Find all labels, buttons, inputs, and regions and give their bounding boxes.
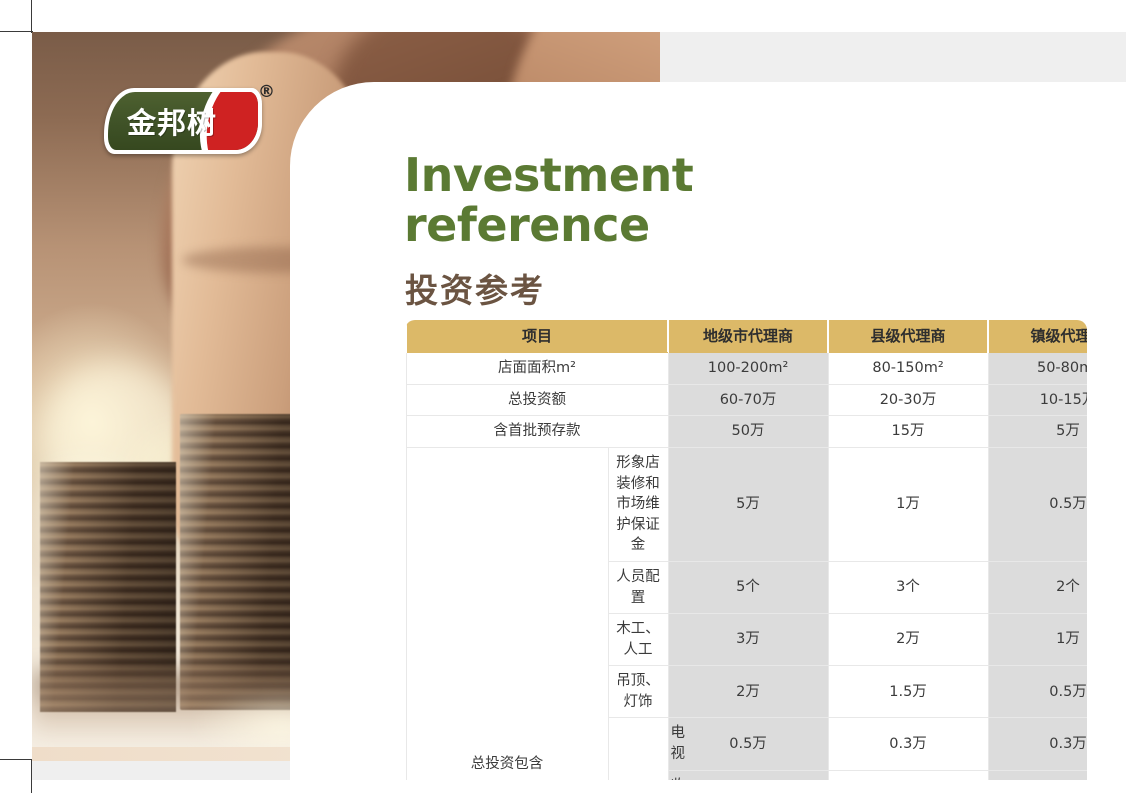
row-label: 店面面积m² bbox=[406, 353, 668, 385]
cell-town: 50-80m² bbox=[988, 353, 1087, 385]
artboard: 金邦树 ® Investment reference 投资参考 项目 地级市代理… bbox=[32, 32, 1126, 780]
logo-shield-fill: 金邦树 bbox=[108, 92, 258, 150]
cell-county: 3个 bbox=[828, 561, 988, 613]
cell-county: 1.5万 bbox=[828, 666, 988, 718]
cell-county: 80-150m² bbox=[828, 353, 988, 385]
logo-wordmark: 金邦树 bbox=[108, 100, 258, 142]
column-header-city: 地级市代理商 bbox=[668, 321, 828, 353]
row-label: 人员配置 bbox=[608, 561, 668, 613]
table-header: 项目 地级市代理商 县级代理商 镇级代理商 bbox=[406, 321, 1087, 353]
table-header-row: 项目 地级市代理商 县级代理商 镇级代理商 bbox=[406, 321, 1087, 353]
cell-town: 5万 bbox=[988, 416, 1087, 448]
table-row: 总投资包含 形象店装修和 市场维护保证金 5万 1万 0.5万 bbox=[406, 448, 1087, 562]
row-label: 吊顶、灯饰 bbox=[608, 666, 668, 718]
cell-city: 2万 bbox=[668, 666, 828, 718]
cell-town: 10-15万 bbox=[988, 384, 1087, 416]
registered-trademark-icon: ® bbox=[258, 82, 275, 102]
cell-county: 2万 bbox=[828, 614, 988, 666]
cell-city: 3万 bbox=[668, 614, 828, 666]
cell-city: 5个 bbox=[668, 561, 828, 613]
cell-town: 0.3万 bbox=[988, 770, 1087, 780]
column-header-item: 项目 bbox=[406, 321, 668, 353]
row-label: 含首批预存款 bbox=[406, 416, 668, 448]
page-title-chinese: 投资参考 bbox=[405, 264, 545, 312]
crop-mark-top-left-horizontal bbox=[0, 31, 33, 32]
group-label-total-includes: 总投资包含 bbox=[406, 448, 608, 780]
cell-city: 5万 bbox=[668, 448, 828, 562]
investment-table: 项目 地级市代理商 县级代理商 镇级代理商 店面面积m² 100-200m² 8… bbox=[405, 320, 1087, 780]
table-body: 店面面积m² 100-200m² 80-150m² 50-80m² 总投资额 6… bbox=[406, 353, 1087, 780]
cell-county: 15万 bbox=[828, 416, 988, 448]
page-root: 金邦树 ® Investment reference 投资参考 项目 地级市代理… bbox=[0, 0, 1126, 795]
row-label: 总投资额 bbox=[406, 384, 668, 416]
cell-city: 50万 bbox=[668, 416, 828, 448]
column-header-town: 镇级代理商 bbox=[988, 321, 1087, 353]
investment-table-wrapper: 项目 地级市代理商 县级代理商 镇级代理商 店面面积m² 100-200m² 8… bbox=[405, 320, 1087, 780]
cell-city: 0.3万 bbox=[668, 770, 828, 780]
cell-town: 0.5万 bbox=[988, 666, 1087, 718]
table-row: 含首批预存款 50万 15万 5万 bbox=[406, 416, 1087, 448]
cell-town: 1万 bbox=[988, 614, 1087, 666]
cell-city: 60-70万 bbox=[668, 384, 828, 416]
cell-county: 0.3万 bbox=[828, 718, 988, 770]
crop-mark-bottom-left-horizontal bbox=[0, 759, 33, 760]
cell-county: 0.3万 bbox=[828, 770, 988, 780]
cell-city: 100-200m² bbox=[668, 353, 828, 385]
cell-town: 2个 bbox=[988, 561, 1087, 613]
content-card: Investment reference 投资参考 项目 地级市代理商 县级代理… bbox=[290, 82, 1126, 780]
cell-county: 20-30万 bbox=[828, 384, 988, 416]
page-title-english: Investment reference bbox=[404, 150, 693, 250]
cell-town: 0.3万 bbox=[988, 718, 1087, 770]
group-label-indoor: 室内 bbox=[608, 718, 668, 780]
cell-county: 1万 bbox=[828, 448, 988, 562]
row-label: 木工、人工 bbox=[608, 614, 668, 666]
brand-logo: 金邦树 ® bbox=[104, 88, 262, 154]
table-row: 总投资额 60-70万 20-30万 10-15万 bbox=[406, 384, 1087, 416]
cell-city: 0.5万 bbox=[668, 718, 828, 770]
table-row: 店面面积m² 100-200m² 80-150m² 50-80m² bbox=[406, 353, 1087, 385]
column-header-county: 县级代理商 bbox=[828, 321, 988, 353]
cell-town: 0.5万 bbox=[988, 448, 1087, 562]
crop-mark-top-left-vertical bbox=[31, 0, 32, 33]
row-label: 形象店装修和 市场维护保证金 bbox=[608, 448, 668, 562]
